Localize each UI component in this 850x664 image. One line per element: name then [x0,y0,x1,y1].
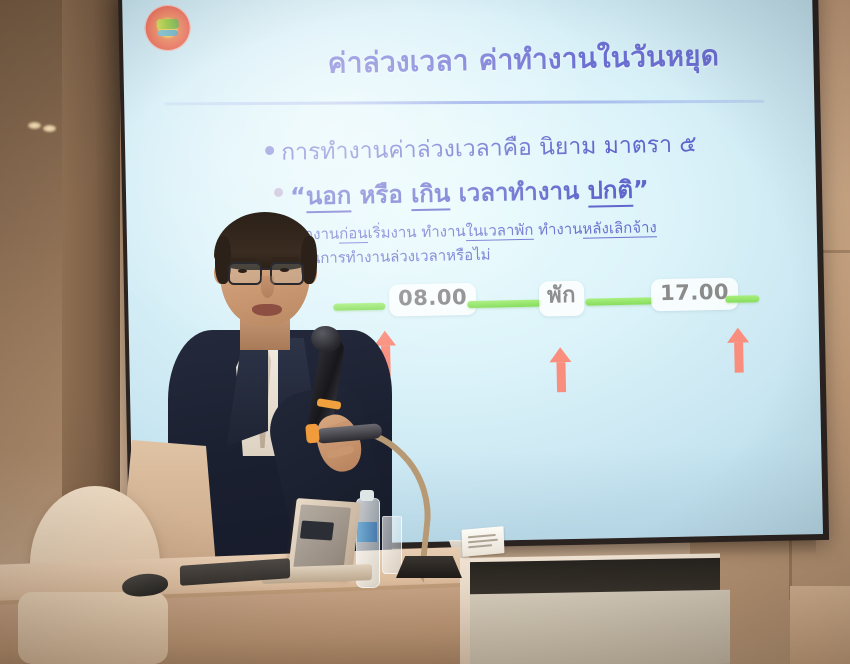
quote-open: “ [290,182,306,210]
slide-bullet-2-text: “นอก หรือ เกิน เวลาทำงาน ปกติ” [290,169,649,215]
eyebrow-right [272,257,298,261]
mouth [252,304,282,316]
emphasis-word-pakati: ปกติ [587,176,633,208]
bullet-dot-icon [265,146,274,155]
quote-close: ” [633,175,649,203]
ceiling-light [43,125,56,132]
slide-title: ค่าล่วงเวลา ค่าทำงานในวันหยุด [263,33,784,87]
timeline-segment [585,297,653,305]
name-placard [462,526,505,557]
placard-text-line [468,544,492,548]
slide-bullet-2: “นอก หรือ เกิน เวลาทำงาน ปกติ” [274,169,649,216]
logo-green-band [157,19,179,29]
placard-text-line [468,534,496,538]
ceiling-light [28,122,41,129]
title-divider [164,100,764,106]
side-table-front-panel [470,590,730,664]
laptop-control-panel [300,520,334,540]
timeline-label-start: 08.00 [389,283,477,317]
subline-1-underline-c: หลังเลิกจ้าง [582,218,657,238]
timeline-segment [467,300,541,308]
timeline-segment [725,295,759,303]
arrow-stem [734,343,744,373]
timeline-arrow-end [727,327,750,372]
eyeglass-bridge [260,268,270,270]
timeline-label-break: พัก [539,281,585,317]
logo-blue-band [158,30,178,36]
eye-right [280,268,289,272]
arrow-head-icon [727,327,749,342]
gooseneck-microphone-ring [305,423,320,443]
subline-1-part-c: ทำงาน [533,220,582,239]
right-wall-shelf [790,586,850,664]
timeline-arrow-break [549,347,572,392]
nose [261,276,274,298]
eyeglass-lens-left [228,262,262,285]
conjunction-text: หรือ [351,180,411,209]
bullet-dot-icon [274,188,283,197]
eyeglass-lens-right [270,262,304,285]
slide-bullet-1: การทำงานค่าล่วงเวลาคือ นิยาม มาตรา ๕ [265,126,697,171]
arrow-head-icon [549,347,571,362]
emphasis-word-nok: นอก [306,181,352,213]
timeline-label-end: 17.00 [651,278,739,312]
emphasis-word-kern: เกิน [411,179,451,211]
mid-text: เวลาทำงาน [450,177,588,208]
gooseneck-microphone-base [396,556,462,578]
slide-bullet-1-text: การทำงานค่าล่วงเวลาคือ นิยาม มาตรา ๕ [281,126,697,170]
placard-text-line [468,539,498,543]
arrow-stem [556,362,566,392]
ministry-emblem-logo [144,5,191,52]
office-chair-seat [18,592,168,664]
eye-left [238,269,247,273]
presentation-photo-scene: ค่าล่วงเวลา ค่าทำงานในวันหยุด การทำงานค่… [0,0,850,664]
subline-1-underline-b: ในเวลาพัก [465,221,533,241]
